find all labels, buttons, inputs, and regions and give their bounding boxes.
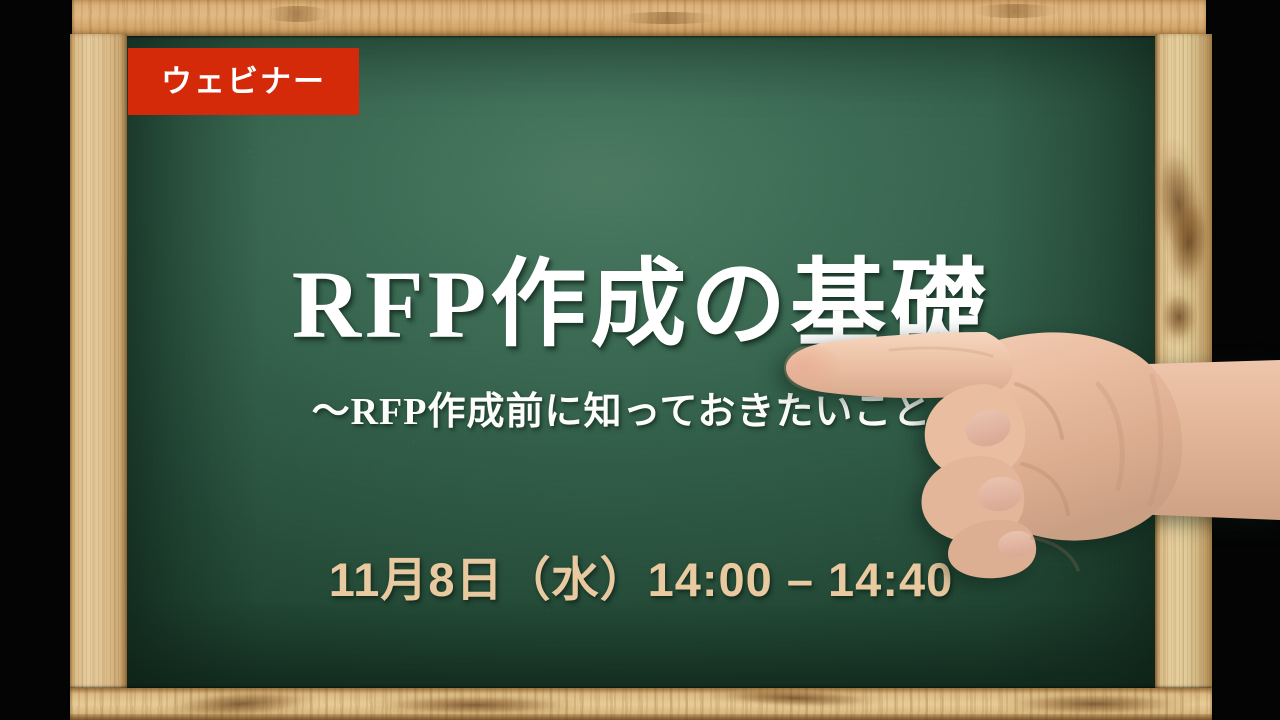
slide-subtitle: 〜RFP作成前に知っておきたいこと〜 bbox=[128, 390, 1154, 436]
webinar-badge: ウェビナー bbox=[128, 48, 359, 115]
wood-frame-top bbox=[72, 0, 1206, 36]
webinar-badge-label: ウェビナー bbox=[161, 66, 326, 97]
wood-frame-left bbox=[70, 34, 127, 688]
slide-canvas: ウェビナー RFP作成の基礎 〜RFP作成前に知っておきたいこと〜 11月8日（… bbox=[0, 0, 1280, 720]
slide-datetime: 11月8日（水）14:00 – 14:40 bbox=[128, 552, 1154, 608]
slide-title: RFP作成の基礎 bbox=[128, 252, 1154, 358]
wood-frame-bottom bbox=[70, 688, 1212, 720]
wood-frame-right bbox=[1155, 34, 1212, 688]
